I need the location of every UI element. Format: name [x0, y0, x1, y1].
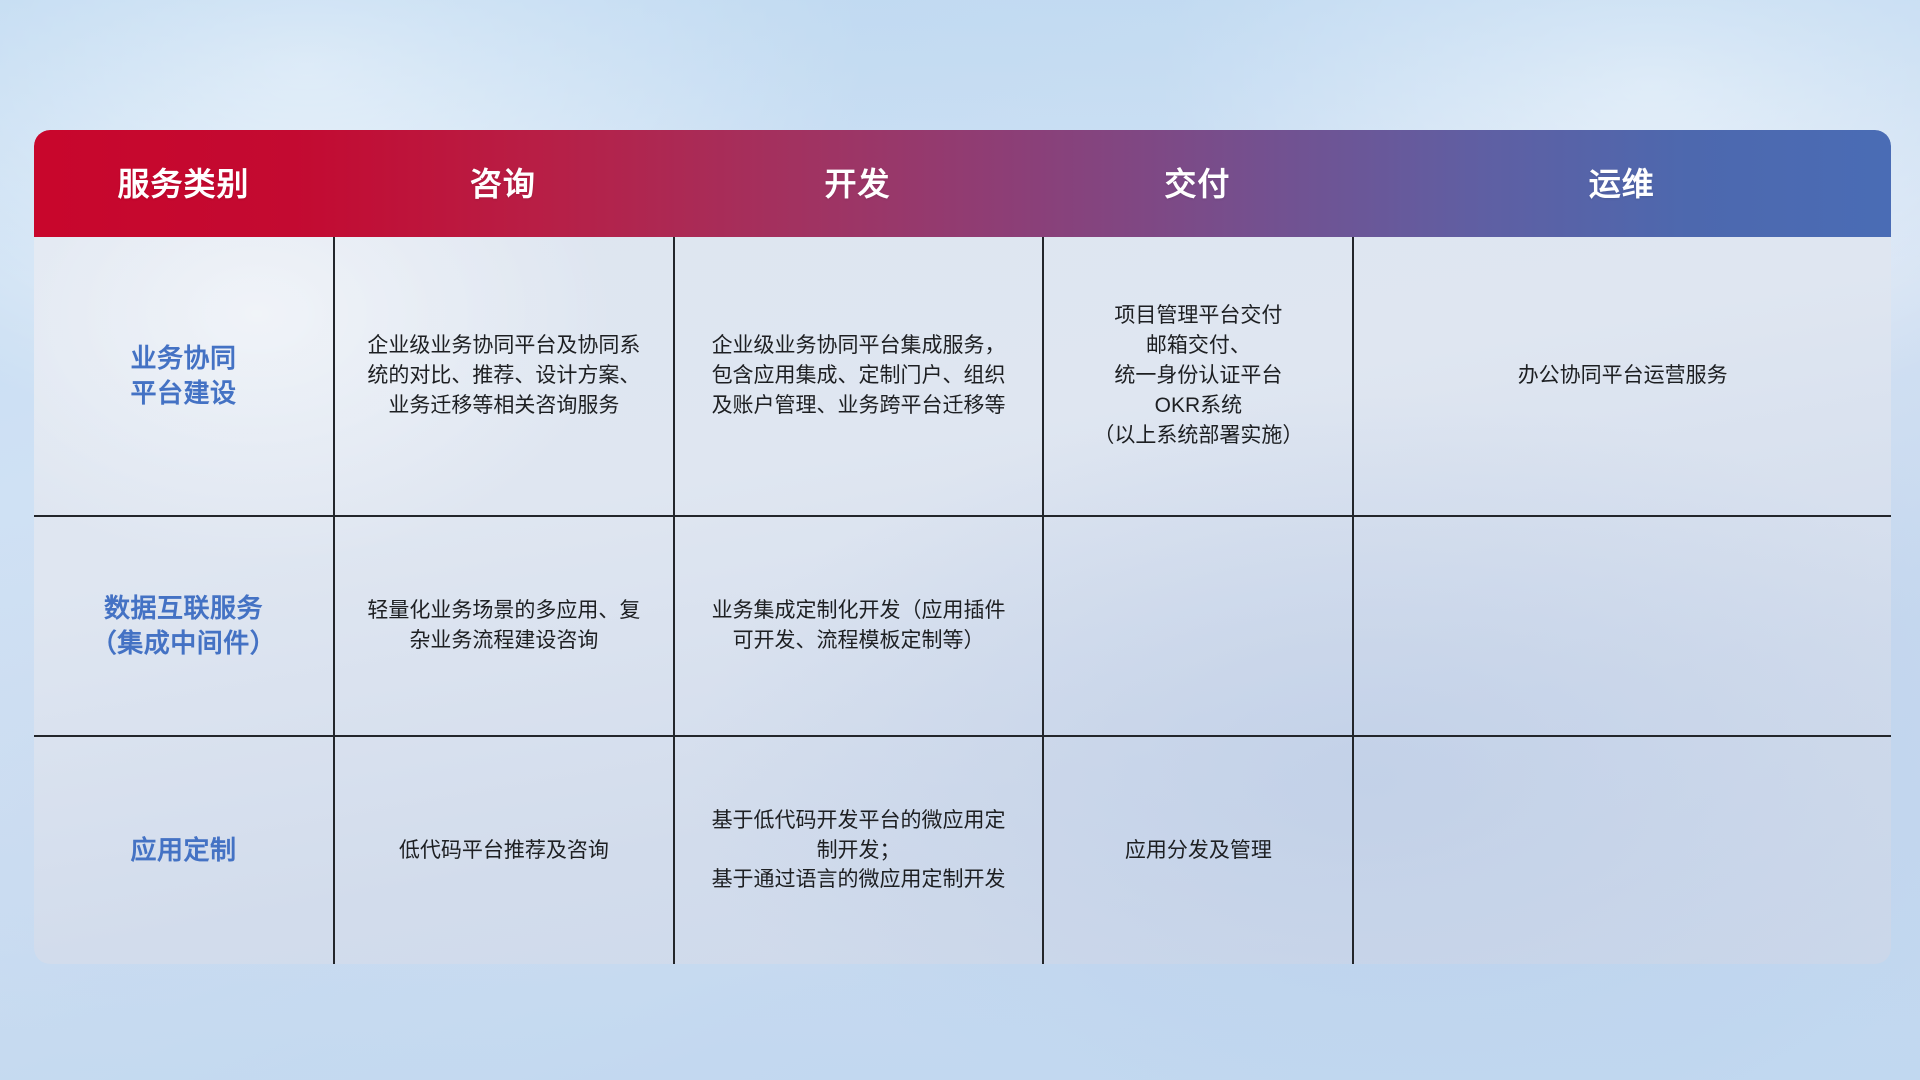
row-label-data-interconnect: 数据互联服务 （集成中间件） — [34, 517, 333, 735]
row-label-app-customization: 应用定制 — [34, 737, 333, 964]
cell-delivery-r2 — [1042, 517, 1352, 735]
table-row: 应用定制 低代码平台推荐及咨询 基于低代码开发平台的微应用定 制开发； 基于通过… — [34, 735, 1891, 964]
cell-consulting-r3: 低代码平台推荐及咨询 — [333, 737, 673, 964]
column-header-consulting: 咨询 — [333, 168, 673, 200]
table-row: 业务协同 平台建设 企业级业务协同平台及协同系 统的对比、推荐、设计方案、 业务… — [34, 237, 1891, 515]
cell-delivery-r3: 应用分发及管理 — [1042, 737, 1352, 964]
cell-operations-r2 — [1352, 517, 1891, 735]
row-label-business-collaboration: 业务协同 平台建设 — [34, 237, 333, 515]
column-header-delivery: 交付 — [1042, 168, 1352, 200]
cell-development-r3: 基于低代码开发平台的微应用定 制开发； 基于通过语言的微应用定制开发 — [673, 737, 1043, 964]
cell-delivery-r1: 项目管理平台交付 邮箱交付、 统一身份认证平台 OKR系统 （以上系统部署实施） — [1042, 237, 1352, 515]
column-header-operations: 运维 — [1352, 168, 1891, 200]
cell-operations-r1: 办公协同平台运营服务 — [1352, 237, 1891, 515]
column-header-development: 开发 — [673, 168, 1043, 200]
cell-development-r1: 企业级业务协同平台集成服务， 包含应用集成、定制门户、组织 及账户管理、业务跨平… — [673, 237, 1043, 515]
cell-development-r2: 业务集成定制化开发（应用插件 可开发、流程模板定制等） — [673, 517, 1043, 735]
cell-consulting-r2: 轻量化业务场景的多应用、复 杂业务流程建设咨询 — [333, 517, 673, 735]
service-matrix-table: 服务类别 咨询 开发 交付 运维 业务协同 平台建设 企业级业务协同平台及协同系… — [34, 130, 1891, 964]
table-row: 数据互联服务 （集成中间件） 轻量化业务场景的多应用、复 杂业务流程建设咨询 业… — [34, 515, 1891, 735]
table-header-row: 服务类别 咨询 开发 交付 运维 — [34, 130, 1891, 237]
column-header-category: 服务类别 — [34, 168, 333, 200]
cell-operations-r3 — [1352, 737, 1891, 964]
table-body: 业务协同 平台建设 企业级业务协同平台及协同系 统的对比、推荐、设计方案、 业务… — [34, 237, 1891, 964]
cell-consulting-r1: 企业级业务协同平台及协同系 统的对比、推荐、设计方案、 业务迁移等相关咨询服务 — [333, 237, 673, 515]
